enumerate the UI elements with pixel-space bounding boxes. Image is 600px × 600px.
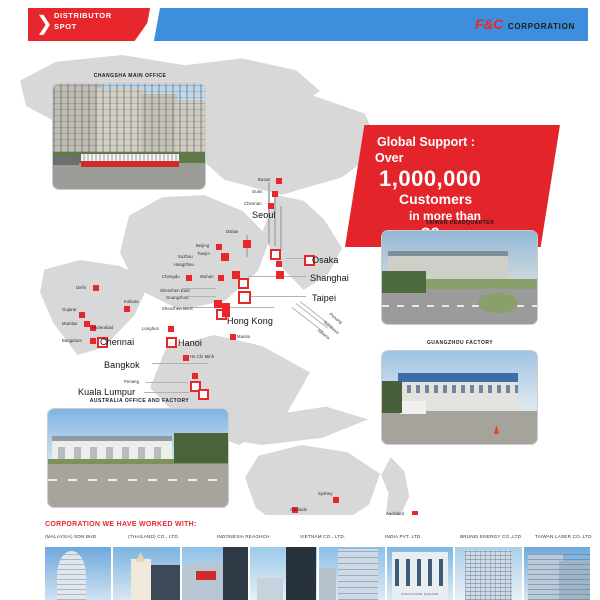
- landmass-australia: [245, 445, 380, 515]
- map-label-gujarat: Gujarat: [62, 307, 76, 312]
- map-label-busan: Busan: [258, 177, 270, 182]
- yard-ground: [382, 411, 537, 444]
- map-label-seoul: Seoul: [252, 210, 276, 220]
- factory-windows: [398, 385, 518, 393]
- partner-photo: [524, 547, 590, 600]
- warehouse-doors: [58, 447, 168, 459]
- photo-guangzhou-factory: [381, 350, 538, 445]
- city-pin-wuhan: [218, 275, 224, 281]
- partner-photo-caption: SINGAPORE SQUARE: [387, 592, 453, 596]
- map-label-sydney: Sydney: [318, 491, 333, 496]
- map-label-shenzhen-east: Shenzhen East: [160, 288, 190, 293]
- leader-line: [190, 307, 216, 308]
- brand-logo: F&C CORPORATION: [475, 16, 575, 32]
- warehouse-roof: [52, 436, 172, 441]
- map-label-shanghai: Shanghai: [310, 273, 349, 283]
- map-label-suzhou: Suzhou: [178, 254, 193, 259]
- partner-name-india-pvt-ltd: INDIA PVT. LTD.: [385, 534, 422, 539]
- leader-line: [144, 392, 190, 393]
- partner-name-indonesia-reaghch: INDONESIA REAGHCH: [217, 534, 270, 539]
- map-label-delhi: Delhi: [76, 285, 86, 290]
- leader-line: [152, 363, 208, 364]
- partner-photo-strip: SINGAPORE SQUARE: [45, 547, 590, 600]
- city-pin-beijing: [216, 244, 222, 250]
- partner-photo: [319, 547, 385, 600]
- map-label-beijing: Beijing: [196, 243, 209, 248]
- page-header: ❯ DISTRIBUTOR SPOT F&C CORPORATION: [0, 0, 600, 45]
- city-pin-penang: [192, 373, 198, 379]
- map-label-gumi: Gumi: [252, 189, 262, 194]
- map-label-chennai: Chennai: [100, 337, 134, 347]
- city-pin-bangalore: [90, 338, 96, 344]
- map-label-ho-chi-minh: Ho Chi Minh: [190, 354, 214, 359]
- photo-australia-office-and-factory: [47, 408, 229, 508]
- red-banner-crowd: [81, 160, 179, 167]
- city-pin-dalian: [243, 240, 251, 248]
- building-windows: [53, 84, 205, 158]
- leader-line: [296, 303, 328, 328]
- map-label-kolkata: Kolkata: [124, 299, 139, 304]
- header-tagline: DISTRIBUTOR SPOT: [54, 11, 112, 32]
- map-label-adelaide: Adelaide: [290, 507, 307, 512]
- map-label-hong-kong: Hong Kong: [227, 316, 273, 326]
- city-pin-seoul: [270, 249, 281, 260]
- partner-name-thailand-co-ltd: (THAILAND) CO., LTD.: [128, 534, 179, 539]
- city-pin-sydney: [333, 497, 339, 503]
- lot-marking: [48, 479, 228, 481]
- staff-row: [81, 154, 179, 161]
- banner-line-2: Over: [375, 151, 404, 165]
- map-label-osaka: Osaka: [312, 255, 339, 265]
- partner-name-brunei-energy-co-ltd: BRUNEI ENERGY CO.,LTD: [460, 534, 521, 539]
- partner-name-vietnam-co-ltd: VIETNAM CO., LTD.: [300, 534, 345, 539]
- city-pin-chengdu: [186, 275, 192, 281]
- city-pin-suzhou: [276, 261, 282, 267]
- city-pin-kolkata: [124, 306, 130, 312]
- map-label-penang: Penang: [124, 379, 139, 384]
- map-label-mumbai: Mumbai: [62, 321, 78, 326]
- city-pin-cheonan: [268, 203, 274, 209]
- photo-caption-taiwan: TAIWAN HEADQUARTER: [380, 220, 540, 226]
- partner-photo: [250, 547, 316, 600]
- city-pin-shanghai-hub: [238, 278, 249, 289]
- world-map: BusanGumiCheonanDalianBeijingTianjinSuzh…: [0, 45, 600, 515]
- leader-line: [280, 206, 282, 250]
- city-pin-ho-chi-minh: [183, 355, 189, 361]
- leader-line: [146, 382, 188, 383]
- map-label-dalian: Dalian: [226, 229, 238, 234]
- brand-name: CORPORATION: [508, 22, 575, 31]
- city-pin-hanoi: [166, 337, 177, 348]
- map-label-hanoi: Hanoi: [178, 338, 202, 348]
- photo-caption-changsha: CHANGSHA MAIN OFFICE: [60, 73, 200, 79]
- city-pin-taipei: [238, 291, 251, 304]
- map-label-bangkok: Bangkok: [104, 360, 140, 370]
- city-pin-guangzhou: [214, 300, 222, 308]
- brand-mark: F&C: [475, 16, 503, 32]
- tree-cluster: [382, 271, 426, 293]
- photo-caption-guangzhou: GUANGZHOU FACTORY: [380, 340, 540, 346]
- map-label-hangzhou: Hangzhou: [174, 262, 194, 267]
- partner-photo: [113, 547, 179, 600]
- photo-caption-australia: AUSTRALIA OFFICE AND FACTORY: [52, 398, 227, 404]
- roof-shape: [388, 251, 508, 256]
- banner-customer-count: 1,000,000: [379, 166, 481, 192]
- distributor-spot-page: ❯ DISTRIBUTOR SPOT F&C CORPORATION: [0, 0, 600, 600]
- city-pin-delhi: [93, 285, 99, 291]
- header-tagline-line1: DISTRIBUTOR: [54, 11, 112, 22]
- partner-photo: [455, 547, 521, 600]
- leader-line: [186, 296, 216, 297]
- chevron-right-icon: ❯: [36, 13, 49, 35]
- map-label-taipei: Taipei: [312, 293, 336, 303]
- header-tagline-line2: SPOT: [54, 22, 112, 33]
- map-label-hyderabad: Hyderabad: [92, 325, 113, 330]
- leader-line: [248, 296, 306, 297]
- map-label-manila: Manila: [237, 334, 250, 339]
- banner-line-4: Customers: [399, 191, 472, 207]
- map-label-chengdu: Chengdu: [162, 274, 180, 279]
- map-label-guangzhou: Guangzhou: [166, 295, 189, 300]
- truck-shape: [400, 401, 426, 414]
- city-pin-gujarat: [79, 312, 85, 318]
- landmass-new-zealand: [378, 457, 418, 515]
- map-label-wuhan: Wuhan: [200, 274, 214, 279]
- city-pin-busan: [276, 178, 282, 184]
- map-label-kuala-lumpur: Kuala Lumpur: [78, 387, 135, 397]
- tree-cluster: [382, 381, 402, 413]
- map-diagonal-label-jakarta: Jakarta: [316, 328, 330, 341]
- partner-photo: [45, 547, 111, 600]
- banner-line-1: Global Support :: [377, 135, 475, 149]
- parked-cars: [53, 156, 79, 165]
- photo-changsha-main-office: [52, 83, 206, 190]
- city-pin-tianjin: [221, 253, 229, 261]
- partner-name-row: (MALAYSIA) SDN BHD(THAILAND) CO., LTD.IN…: [45, 534, 590, 544]
- map-label-cheonan: Cheonan: [244, 201, 262, 206]
- partner-photo: SINGAPORE SQUARE: [387, 547, 453, 600]
- city-pin-gumi: [272, 191, 278, 197]
- partner-photo: [182, 547, 248, 600]
- landmass-siberia: [190, 85, 380, 195]
- city-pin-manila: [230, 334, 236, 340]
- tree-cluster: [174, 433, 228, 463]
- parking-lot: [48, 461, 228, 507]
- city-pin-longhun: [168, 326, 174, 332]
- roundabout-island: [478, 293, 518, 313]
- map-label-longhun: Longhun: [142, 326, 159, 331]
- partners-footer: CORPORATION WE HAVE WORKED WITH: (MALAYS…: [0, 515, 600, 600]
- photo-taiwan-headquarter: [381, 230, 538, 325]
- global-support-banner: Global Support : Over 1,000,000 Customer…: [345, 125, 560, 247]
- map-label-shenzhen-west: Shenzhen West: [162, 306, 193, 311]
- map-label-tianjin: Tianjin: [197, 251, 210, 256]
- partner-name-malaysia-sdn-bhd: (MALAYSIA) SDN BHD: [45, 534, 96, 539]
- partner-name-taiwan-laser-co-ltd: TAIWAN LASER CO.,LTD: [535, 534, 592, 539]
- map-label-bangalore: Bangalore: [62, 338, 82, 343]
- leader-line: [274, 194, 276, 246]
- partners-title: CORPORATION WE HAVE WORKED WITH:: [45, 521, 197, 528]
- city-pin-hangzhou: [276, 271, 284, 279]
